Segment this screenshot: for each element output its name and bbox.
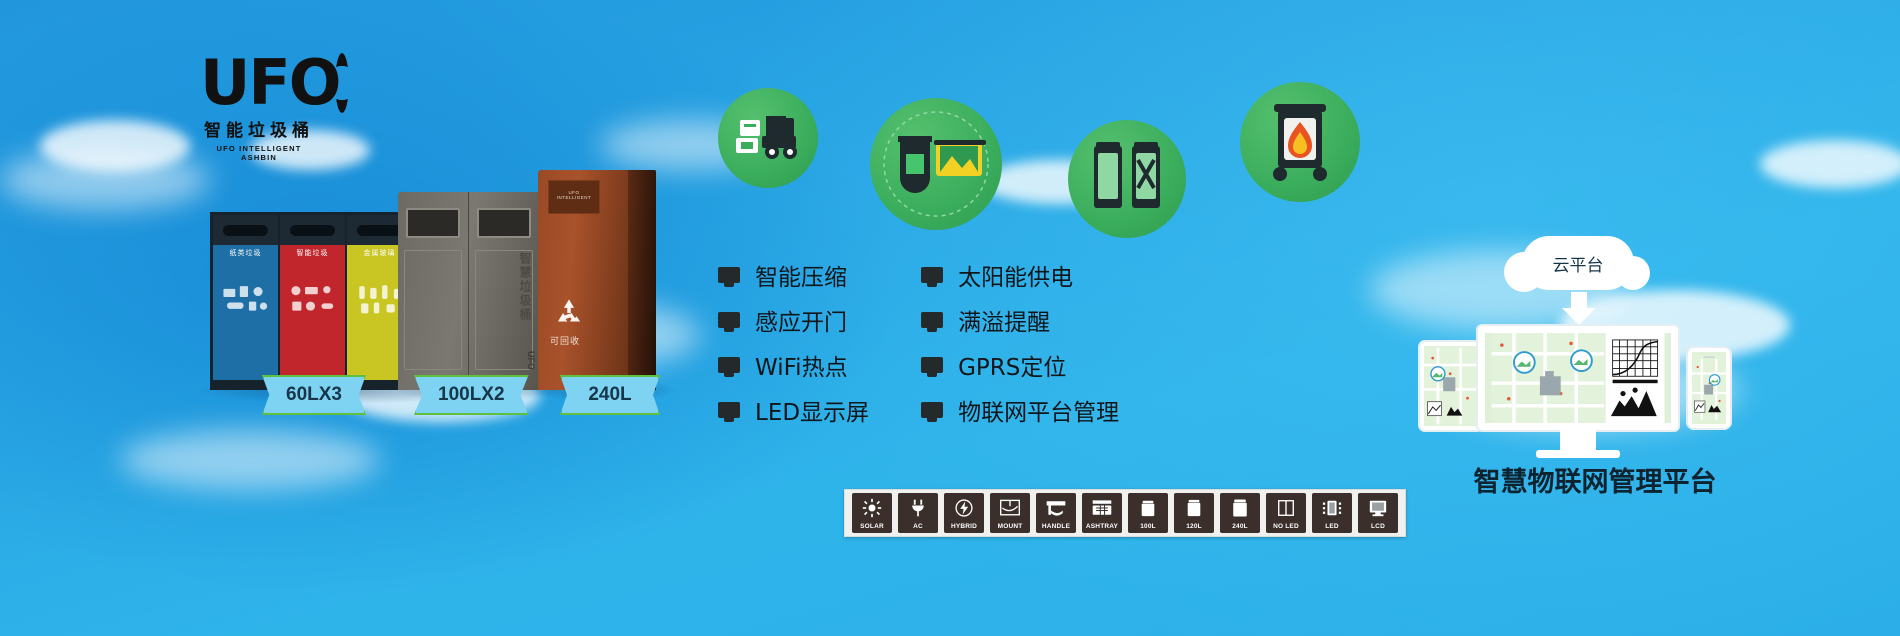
feature-item: GPRS定位	[921, 348, 1119, 382]
spec-icon-240l: 240L	[1220, 493, 1260, 533]
power-plug-icon	[898, 493, 938, 524]
bin-100l-icon	[1128, 493, 1168, 524]
handle-icon	[1036, 493, 1076, 524]
hybrid-bolt-icon	[944, 493, 984, 524]
spec-icon-label: HYBRID	[951, 524, 977, 534]
feature-item: 太阳能供电	[921, 258, 1119, 292]
tablet-map-screen	[1424, 346, 1478, 426]
single-large-bin: UFOINTELLIGENT 可回收	[538, 170, 656, 390]
spec-icon-label: HANDLE	[1042, 524, 1070, 534]
smart-compaction-circle	[718, 88, 818, 188]
spec-icon-label: SOLAR	[860, 524, 884, 534]
bin-window	[477, 208, 530, 238]
monitor-bullet-icon	[718, 402, 740, 418]
led-icon	[1312, 493, 1352, 524]
monitor-bullet-icon	[921, 402, 943, 418]
fill-level-sensor-circle	[1068, 120, 1186, 238]
spec-icon-led: LED	[1312, 493, 1352, 533]
bin-recycle-label: 可回收	[550, 334, 580, 347]
feature-item: WiFi热点	[718, 348, 869, 382]
banner-canvas: UFO 智能垃圾桶 UFO INTELLIGENT ASHBIN 纸类垃圾	[0, 0, 1900, 636]
bin-side-shade	[628, 170, 656, 390]
spec-icon-ac: AC	[898, 493, 938, 533]
no-led-icon	[1266, 493, 1306, 524]
feature-label: 满溢提醒	[958, 303, 1050, 337]
spec-icon-label: AC	[913, 524, 923, 534]
monitor-bullet-icon	[718, 267, 740, 283]
spec-icon-lcd: LCD	[1358, 493, 1398, 533]
spec-icon-strip: SOLAR AC HYBRID MOUNT	[844, 489, 1406, 537]
monitor-bullet-icon	[921, 267, 943, 283]
spec-icon-label: 240L	[1232, 524, 1248, 534]
feature-label: GPRS定位	[958, 348, 1066, 382]
iot-platform-illustration: 云平台	[1420, 238, 1760, 458]
cloud-platform-badge: 云平台	[1522, 236, 1634, 290]
monitor-bullet-icon	[921, 312, 943, 328]
bin-brand-mark: UFO	[526, 351, 536, 370]
three-compartment-bin: 纸类垃圾 智能垃圾	[210, 212, 415, 390]
feature-label: LED显示屏	[755, 393, 869, 427]
spec-icon-label: MOUNT	[998, 524, 1023, 534]
spec-icon-no-led: NO LED	[1266, 493, 1306, 533]
spec-icon-handle: HANDLE	[1036, 493, 1076, 533]
desktop-monitor	[1478, 326, 1678, 430]
bin-panel-smart: 智能垃圾	[280, 215, 347, 390]
phone-map-screen	[1692, 352, 1726, 424]
bin-top-label: UFOINTELLIGENT	[549, 181, 599, 200]
bin-slot	[290, 225, 334, 236]
fire-alarm-circle	[1240, 82, 1360, 202]
monitor-bullet-icon	[921, 357, 943, 373]
feature-item: 满溢提醒	[921, 303, 1119, 337]
platform-title: 智慧物联网管理平台	[1430, 460, 1760, 499]
feature-label: 物联网平台管理	[958, 393, 1119, 427]
feature-item: 物联网平台管理	[921, 393, 1119, 427]
spec-icon-hybrid: HYBRID	[944, 493, 984, 533]
bin-door	[404, 250, 463, 370]
bin-panel-head	[280, 215, 345, 245]
smartphone-device	[1688, 348, 1730, 428]
solar-panel-bin-icon	[870, 98, 1002, 230]
spec-icon-label: 100L	[1140, 524, 1156, 534]
bin-window	[406, 208, 459, 238]
cloud-decoration	[120, 430, 380, 490]
capacity-label-100lx2: 100LX2	[414, 375, 529, 415]
bin-panel-head	[213, 215, 278, 245]
logo-chinese-name: 智能垃圾桶	[200, 116, 318, 141]
bin-240l-icon	[1220, 493, 1260, 524]
bin-slot	[223, 225, 267, 236]
recycle-icon	[552, 296, 586, 330]
capacity-label-60lx3: 60LX3	[262, 375, 366, 415]
ufo-ring-icon	[335, 53, 349, 113]
lcd-icon	[1358, 493, 1398, 524]
spec-icon-120l: 120L	[1174, 493, 1214, 533]
monitor-bullet-icon	[718, 312, 740, 328]
monitor-stand	[1560, 430, 1596, 452]
monitor-base	[1536, 450, 1620, 458]
feature-label: 太阳能供电	[958, 258, 1073, 292]
wall-mount-icon	[990, 493, 1030, 524]
monitor-bullet-icon	[718, 357, 740, 373]
bin-120l-icon	[1174, 493, 1214, 524]
twin-bins-icon	[1068, 120, 1186, 238]
solar-power-circle	[870, 98, 1002, 230]
spec-icon-label: LCD	[1371, 524, 1385, 534]
fire-detection-icon	[1240, 82, 1360, 202]
feature-column-left: 智能压缩 感应开门 WiFi热点 LED显示屏	[718, 258, 869, 427]
waste-illustration-icon	[285, 249, 340, 351]
feature-column-right: 太阳能供电 满溢提醒 GPRS定位 物联网平台管理	[921, 258, 1119, 427]
spec-icon-label: 120L	[1186, 524, 1202, 534]
garbage-truck-icon	[718, 88, 818, 188]
feature-label: 感应开门	[755, 303, 847, 337]
logo-wordmark: UFO	[200, 52, 330, 114]
spec-icon-label: LED	[1325, 524, 1339, 534]
feature-item: 智能压缩	[718, 258, 869, 292]
waste-illustration-icon	[218, 249, 273, 351]
spec-icon-label: NO LED	[1273, 524, 1299, 534]
bin-product-group: 纸类垃圾 智能垃圾	[170, 150, 690, 410]
ufo-logo: UFO 智能垃圾桶 UFO INTELLIGENT ASHBIN	[200, 52, 330, 157]
feature-list: 智能压缩 感应开门 WiFi热点 LED显示屏 太阳能供电 满溢提醒	[718, 258, 1119, 427]
cloud-platform-label: 云平台	[1553, 251, 1604, 276]
spec-icon-solar: SOLAR	[852, 493, 892, 533]
feature-label: WiFi热点	[755, 348, 848, 382]
monitor-screen	[1485, 333, 1671, 423]
sun-icon	[852, 493, 892, 524]
dashboard-map-chart	[1485, 333, 1671, 423]
ashtray-icon	[1082, 493, 1122, 524]
feature-item: LED显示屏	[718, 393, 869, 427]
spec-icon-ashtray: ASHTRAY	[1082, 493, 1122, 533]
spec-icon-100l: 100L	[1128, 493, 1168, 533]
cloud-decoration	[1760, 140, 1900, 188]
spec-icon-mount: MOUNT	[990, 493, 1030, 533]
bin-top-panel: UFOINTELLIGENT	[548, 180, 600, 214]
two-compartment-bin: 智慧垃圾桶 UFO	[398, 192, 540, 390]
spec-icon-label: ASHTRAY	[1086, 524, 1118, 534]
logo-letters: UFO	[200, 54, 339, 112]
bin-half	[398, 192, 469, 390]
download-arrow-icon	[1560, 292, 1598, 326]
bin-slot	[357, 225, 401, 236]
tablet-device	[1420, 342, 1482, 430]
capacity-label-240l: 240L	[560, 375, 660, 415]
bin-vertical-label: 智慧垃圾桶	[517, 252, 534, 322]
bin-panel-paper: 纸类垃圾	[213, 215, 280, 390]
feature-label: 智能压缩	[755, 258, 847, 292]
feature-item: 感应开门	[718, 303, 869, 337]
